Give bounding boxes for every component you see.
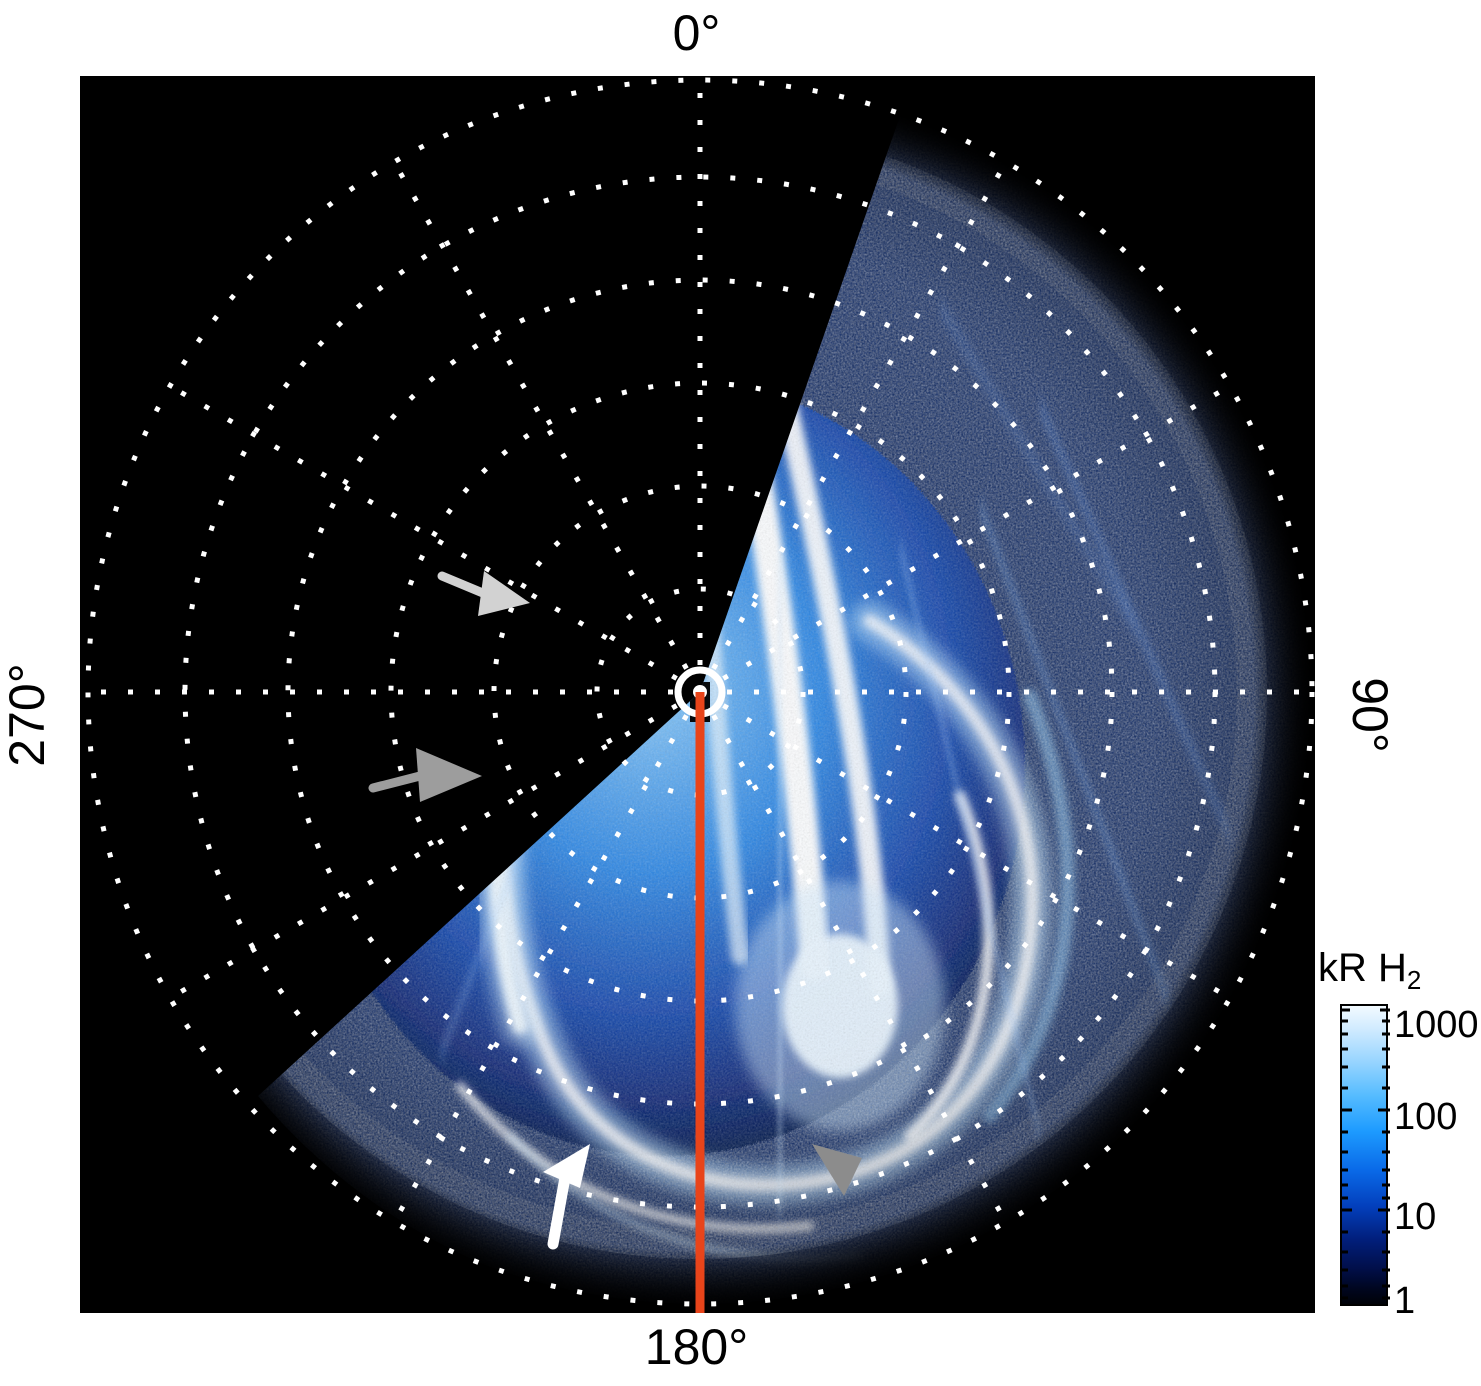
axis-label-0: 0°	[0, 8, 1393, 58]
polar-plot-area	[80, 76, 1315, 1313]
colorbar-label-100: 100	[1394, 1098, 1457, 1136]
axis-label-90: 90°	[1345, 630, 1395, 800]
colorbar-ticks	[1338, 1002, 1392, 1308]
colorbar: kR H2	[1318, 948, 1481, 1328]
colorbar-label-1: 1	[1394, 1282, 1415, 1320]
colorbar-label-10: 10	[1394, 1198, 1436, 1236]
axis-label-180: 180°	[0, 1322, 1393, 1372]
colorbar-title-main: kR H	[1318, 946, 1407, 990]
colorbar-title-sub: 2	[1407, 965, 1421, 995]
polar-aurora-image	[80, 76, 1315, 1313]
axis-label-270: 270°	[2, 630, 52, 800]
colorbar-label-1000: 1000	[1394, 1006, 1479, 1044]
figure-canvas: 0° 180° 270° 90°	[0, 0, 1481, 1386]
colorbar-title: kR H2	[1318, 948, 1421, 993]
